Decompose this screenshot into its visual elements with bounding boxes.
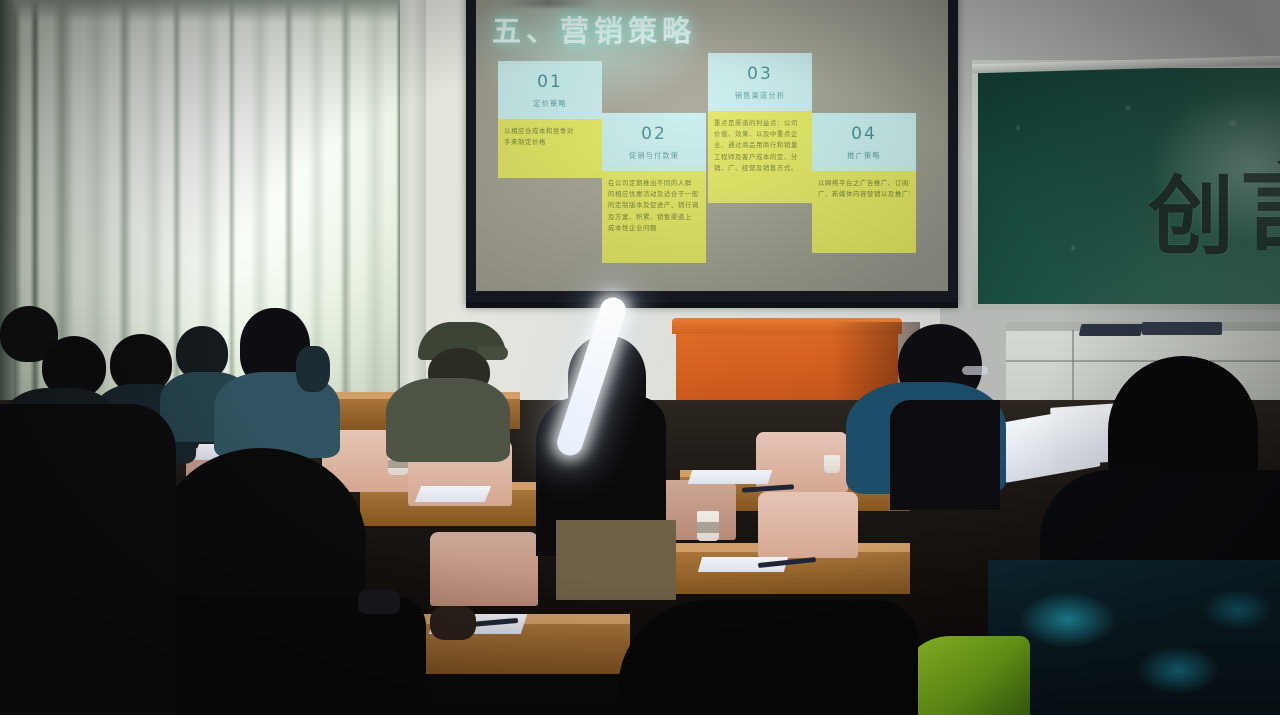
student-shoulder <box>890 400 1000 510</box>
cabinet-object-left <box>1079 324 1144 336</box>
student-jacket-green <box>900 636 1030 715</box>
cabinet-object-right <box>1142 322 1222 335</box>
chalk-writing-2: 言 <box>1240 130 1280 269</box>
screen-vignette <box>476 0 948 291</box>
student-body-foreground <box>618 600 918 715</box>
curtain-rail <box>0 0 420 22</box>
paper-sheet <box>415 486 491 502</box>
blackboard-chalk-dust <box>978 68 1280 304</box>
paper-cup <box>824 455 840 473</box>
cabinet-seam-horizontal <box>1006 360 1280 362</box>
window-frame-left <box>0 0 14 430</box>
projection-screen-frame: 五、营销策略 01 定价策略 以相应合成本和竞争对 手来制定价格 02 促销与付… <box>466 0 958 304</box>
glasses-icon <box>962 366 988 375</box>
chalk-writing: 创 <box>1148 146 1234 271</box>
student-jacket-teal <box>988 560 1280 715</box>
paper-cup-band <box>697 522 719 533</box>
blackboard: 创 言 <box>978 68 1280 304</box>
chair-back <box>430 532 538 606</box>
glasses-icon <box>358 590 400 614</box>
paper-sheet <box>688 470 773 484</box>
student-body <box>556 520 676 600</box>
hand <box>430 606 476 640</box>
chair-back <box>758 492 858 558</box>
classroom-photo: 五、营销策略 01 定价策略 以相应合成本和竞争对 手来制定价格 02 促销与付… <box>0 0 1280 715</box>
window-frame-right <box>400 0 426 430</box>
projection-screen: 五、营销策略 01 定价策略 以相应合成本和竞争对 手来制定价格 02 促销与付… <box>476 0 948 291</box>
student-body <box>386 378 510 462</box>
student-body-foreground <box>0 404 176 715</box>
student-arm <box>296 346 330 392</box>
